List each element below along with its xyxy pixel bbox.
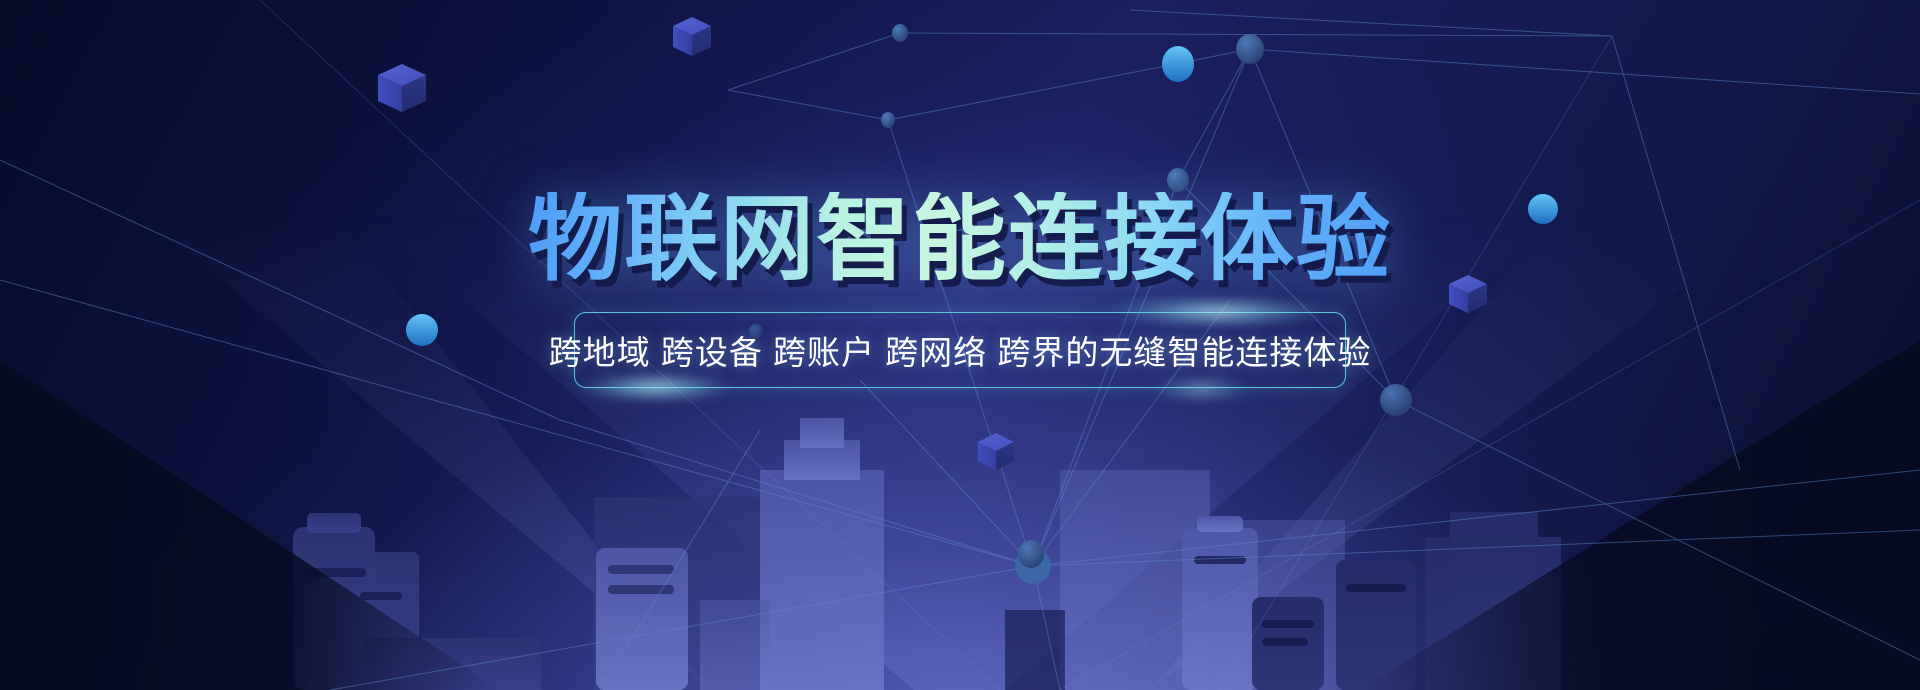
iot-hero-banner: 物联网智能连接体验 跨地域 跨设备 跨账户 跨网络 跨界的无缝智能连接体验 bbox=[0, 0, 1920, 690]
panel-glow-bottom-right bbox=[1153, 381, 1249, 397]
subtitle-panel: 跨地域 跨设备 跨账户 跨网络 跨界的无缝智能连接体验 bbox=[574, 312, 1346, 388]
subtitle-text: 跨地域 跨设备 跨账户 跨网络 跨界的无缝智能连接体验 bbox=[549, 326, 1372, 374]
panel-glow-top-right bbox=[1113, 301, 1323, 323]
hero-content: 物联网智能连接体验 跨地域 跨设备 跨账户 跨网络 跨界的无缝智能连接体验 bbox=[0, 0, 1920, 690]
page-title: 物联网智能连接体验 bbox=[528, 192, 1392, 286]
panel-glow-bottom-left bbox=[581, 376, 731, 398]
